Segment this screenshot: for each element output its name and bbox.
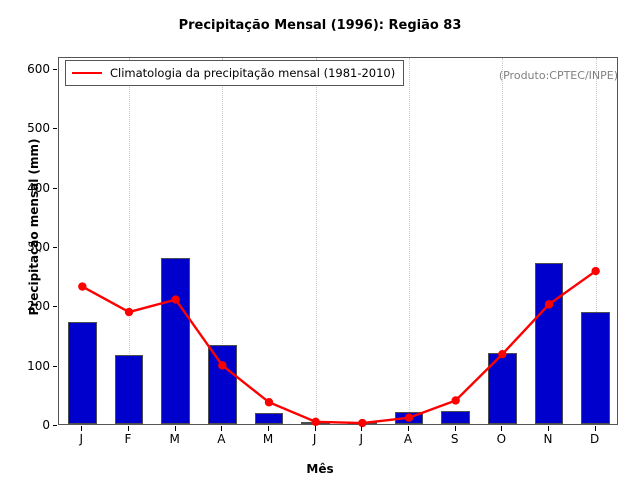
x-tick-label-S-8: S [435,432,475,446]
y-tick-mark [53,306,57,307]
produto-annotation: (Produto:CPTEC/INPE) [499,69,618,82]
y-tick-label-300: 300 [10,240,50,254]
x-tick-label-D-11: D [575,432,615,446]
climatology-marker-D-11 [591,267,599,275]
climatology-marker-M-2 [171,295,179,303]
x-tick-label-A-7: A [388,432,428,446]
y-tick-mark [53,128,57,129]
climatology-marker-N-10 [545,300,553,308]
y-tick-label-400: 400 [10,181,50,195]
x-tick-mark [175,426,176,431]
climatology-marker-F-1 [125,308,133,316]
x-tick-mark [408,426,409,431]
x-tick-mark [81,426,82,431]
climatology-marker-J-5 [311,418,319,426]
y-tick-mark [53,366,57,367]
x-tick-label-N-10: N [528,432,568,446]
x-tick-mark [501,426,502,431]
x-tick-label-J-6: J [341,432,381,446]
y-tick-label-500: 500 [10,121,50,135]
y-tick-label-0: 0 [10,418,50,432]
x-tick-mark [268,426,269,431]
x-tick-mark [221,426,222,431]
y-axis-label: Precipitação mensal (mm) [27,97,41,357]
precipitation-chart-figure: Precipitação Mensal (1996): Região 83 Pr… [0,0,640,500]
y-tick-mark [53,425,57,426]
y-tick-mark [53,247,57,248]
x-tick-mark [548,426,549,431]
x-tick-label-J-5: J [295,432,335,446]
x-tick-label-M-4: M [248,432,288,446]
x-tick-mark [315,426,316,431]
y-tick-label-200: 200 [10,299,50,313]
x-tick-label-F-1: F [108,432,148,446]
x-tick-mark [455,426,456,431]
climatology-marker-J-6 [358,419,366,427]
x-tick-label-O-9: O [481,432,521,446]
chart-title: Precipitação Mensal (1996): Região 83 [0,18,640,33]
climatology-line-series [59,58,619,426]
x-tick-label-J-0: J [61,432,101,446]
x-tick-mark [361,426,362,431]
climatology-marker-M-4 [265,398,273,406]
x-tick-label-A-3: A [201,432,241,446]
y-tick-label-600: 600 [10,62,50,76]
legend-line-swatch-climatology [72,72,102,74]
climatology-marker-O-9 [498,350,506,358]
plot-area [58,57,618,425]
climatology-polyline [82,271,595,423]
x-tick-label-M-2: M [155,432,195,446]
chart-legend: Climatologia da precipitação mensal (198… [65,60,404,86]
y-tick-label-100: 100 [10,359,50,373]
climatology-marker-A-3 [218,361,226,369]
y-tick-mark [53,69,57,70]
climatology-marker-J-0 [78,282,86,290]
x-axis-label: Mês [0,462,640,476]
climatology-marker-S-8 [451,396,459,404]
legend-label-climatology: Climatologia da precipitação mensal (198… [110,66,395,80]
climatology-marker-A-7 [405,413,413,421]
x-tick-mark [595,426,596,431]
x-tick-mark [128,426,129,431]
y-tick-mark [53,188,57,189]
